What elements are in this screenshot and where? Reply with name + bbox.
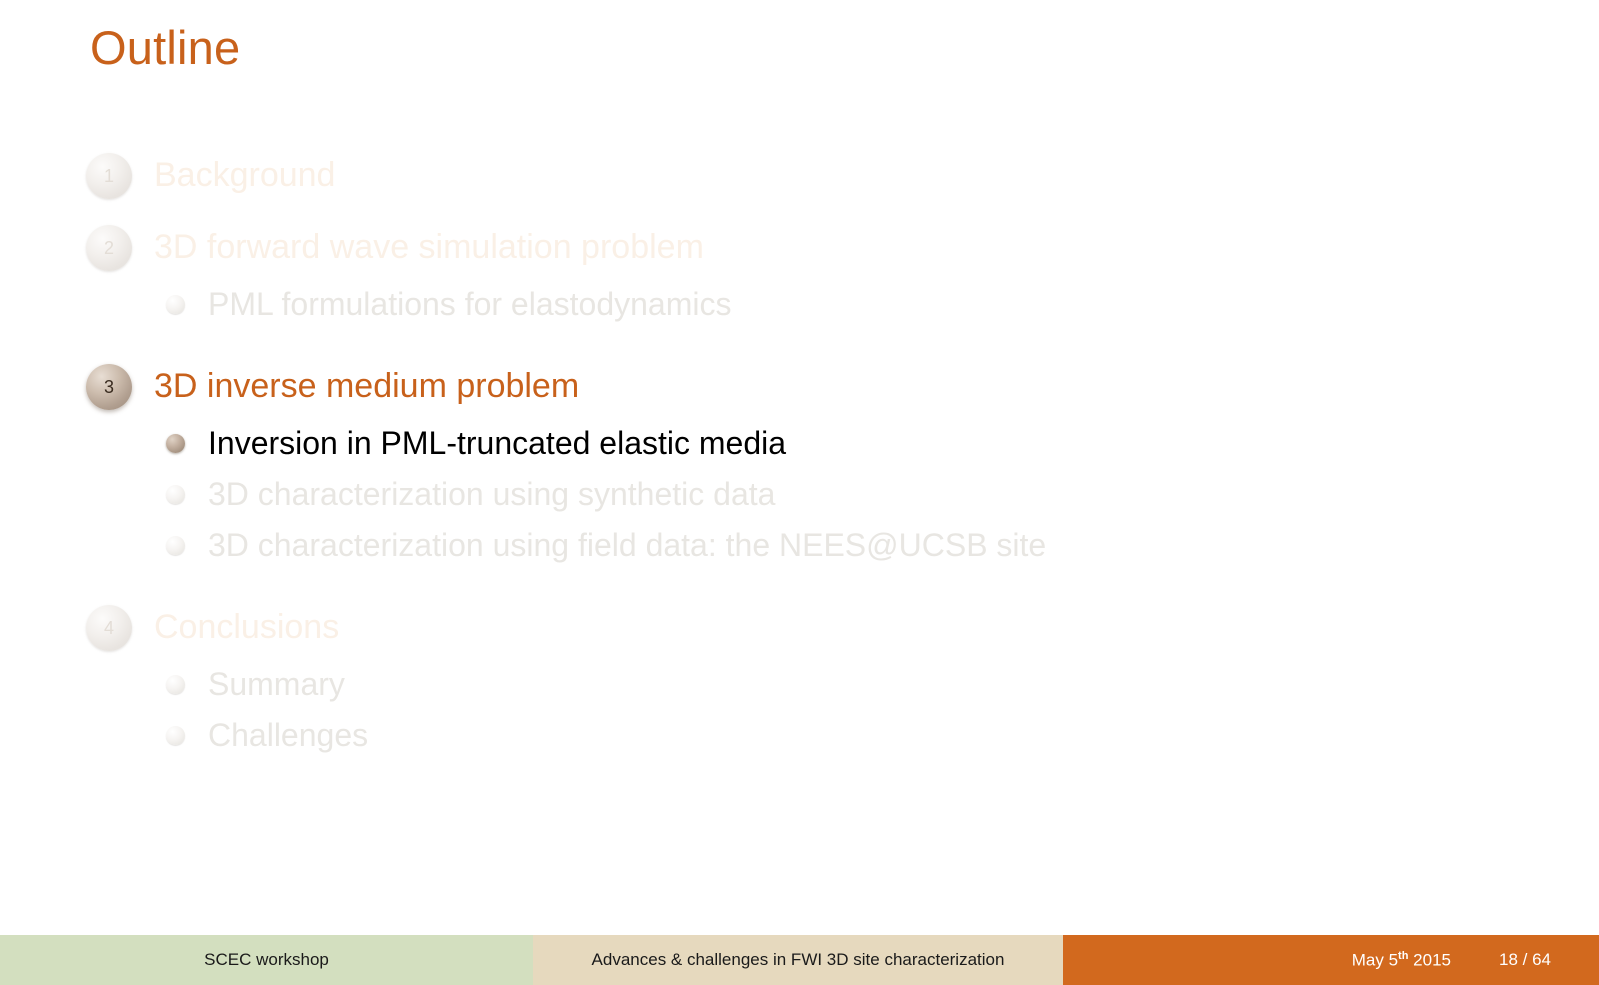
presentation-slide: Outline 1 Background 2 3D forward wave s… (0, 0, 1599, 985)
footer-date-ordinal: th (1398, 950, 1408, 962)
toc-subitem-label: 3D characterization using field data: th… (208, 528, 1046, 563)
toc-subitem-label: 3D characterization using synthetic data (208, 477, 775, 512)
section-number-badge: 1 (86, 153, 132, 199)
footer-page-number: 18 / 64 (1499, 950, 1551, 970)
toc-section-3: 3 3D inverse medium problem Inversion in… (0, 356, 1599, 571)
footer-meta: May 5th 2015 18 / 64 (1063, 935, 1599, 985)
toc-subitem-inversion-pml-truncated[interactable]: Inversion in PML-truncated elastic media (0, 418, 1599, 469)
toc-section-label: 3D inverse medium problem (154, 368, 579, 405)
footer-date: May 5th 2015 (1352, 950, 1451, 971)
toc-subitem-summary[interactable]: Summary (0, 659, 1599, 710)
bullet-sphere-icon (166, 675, 185, 694)
page-title: Outline (90, 22, 240, 74)
bullet-sphere-icon (166, 536, 185, 555)
outline-list: 1 Background 2 3D forward wave simulatio… (0, 145, 1599, 761)
footer-author: SCEC workshop (0, 935, 533, 985)
bullet-sphere-icon (166, 726, 185, 745)
toc-subitem-synthetic-data[interactable]: 3D characterization using synthetic data (0, 469, 1599, 520)
toc-section-label: 3D forward wave simulation problem (154, 229, 704, 266)
toc-subitem-pml-formulations[interactable]: PML formulations for elastodynamics (0, 279, 1599, 330)
sidebar-item-forward-wave-simulation[interactable]: 2 3D forward wave simulation problem (0, 217, 1599, 279)
footer-date-monthday: May 5 (1352, 950, 1398, 969)
toc-subitem-label: Summary (208, 667, 345, 702)
bullet-sphere-icon (166, 295, 185, 314)
spacer (0, 571, 1599, 597)
bullet-sphere-icon (166, 485, 185, 504)
sidebar-item-inverse-medium-problem[interactable]: 3 3D inverse medium problem (0, 356, 1599, 418)
toc-subitem-label: Inversion in PML-truncated elastic media (208, 426, 786, 461)
section-number-badge: 4 (86, 605, 132, 651)
toc-section-2: 2 3D forward wave simulation problem PML… (0, 217, 1599, 330)
section-number-badge: 2 (86, 225, 132, 271)
slide-footer: SCEC workshop Advances & challenges in F… (0, 935, 1599, 985)
sidebar-item-conclusions[interactable]: 4 Conclusions (0, 597, 1599, 659)
toc-subitem-label: PML formulations for elastodynamics (208, 287, 731, 322)
footer-date-year: 2015 (1413, 950, 1451, 969)
toc-subitem-challenges[interactable]: Challenges (0, 710, 1599, 761)
footer-presentation-title: Advances & challenges in FWI 3D site cha… (533, 935, 1063, 985)
toc-subitem-field-data-ucsb[interactable]: 3D characterization using field data: th… (0, 520, 1599, 571)
spacer (0, 330, 1599, 356)
toc-subitem-label: Challenges (208, 718, 368, 753)
bullet-sphere-icon (166, 434, 185, 453)
toc-section-1: 1 Background (0, 145, 1599, 207)
spacer (0, 207, 1599, 217)
sidebar-item-background[interactable]: 1 Background (0, 145, 1599, 207)
toc-section-label: Conclusions (154, 609, 339, 646)
toc-section-label: Background (154, 157, 335, 194)
section-number-badge: 3 (86, 364, 132, 410)
toc-section-4: 4 Conclusions Summary Challenges (0, 597, 1599, 761)
